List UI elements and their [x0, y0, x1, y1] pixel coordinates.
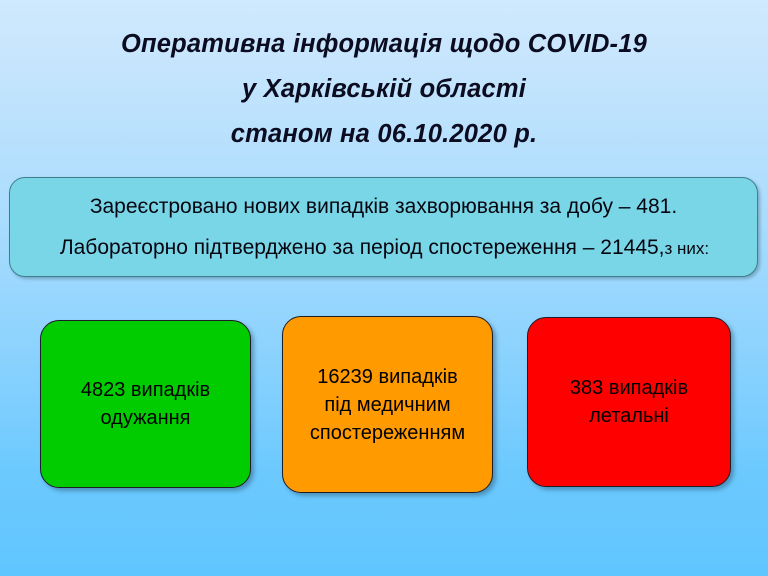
recovered-line-1: 4823 випадків: [81, 376, 210, 404]
stat-text-fatal: 383 випадків летальні: [564, 374, 694, 430]
lab-confirmed-text: Лабораторно підтверджено за період спост…: [60, 236, 665, 259]
new-cases-line: Зареєстровано нових випадків захворюванн…: [90, 186, 677, 227]
observation-line-1: 16239 випадків: [310, 363, 465, 391]
slide-title: Оперативна інформація щодо COVID-19 у Ха…: [0, 22, 768, 157]
covid-info-slide: Оперативна інформація щодо COVID-19 у Ха…: [0, 0, 768, 576]
stat-box-recovered: 4823 випадків одужання: [40, 320, 251, 488]
fatal-line-2: летальні: [570, 402, 688, 430]
title-line-2: у Харківській області: [0, 67, 768, 112]
title-line-1: Оперативна інформація щодо COVID-19: [0, 22, 768, 67]
stat-text-recovered: 4823 випадків одужання: [75, 376, 216, 432]
stat-text-observation: 16239 випадків під медичним спостереженн…: [304, 363, 471, 447]
stat-box-fatal: 383 випадків летальні: [527, 317, 731, 487]
observation-line-2: під медичним: [310, 391, 465, 419]
recovered-line-2: одужання: [81, 404, 210, 432]
title-line-3: станом на 06.10.2020 р.: [0, 112, 768, 157]
summary-info-box: Зареєстровано нових випадків захворюванн…: [9, 177, 758, 277]
stat-box-under-medical-observation: 16239 випадків під медичним спостереженн…: [282, 316, 493, 493]
lab-confirmed-line: Лабораторно підтверджено за період спост…: [10, 227, 757, 269]
observation-line-3: спостереженням: [310, 419, 465, 447]
fatal-line-1: 383 випадків: [570, 374, 688, 402]
lab-confirmed-suffix: з них:: [665, 239, 710, 258]
